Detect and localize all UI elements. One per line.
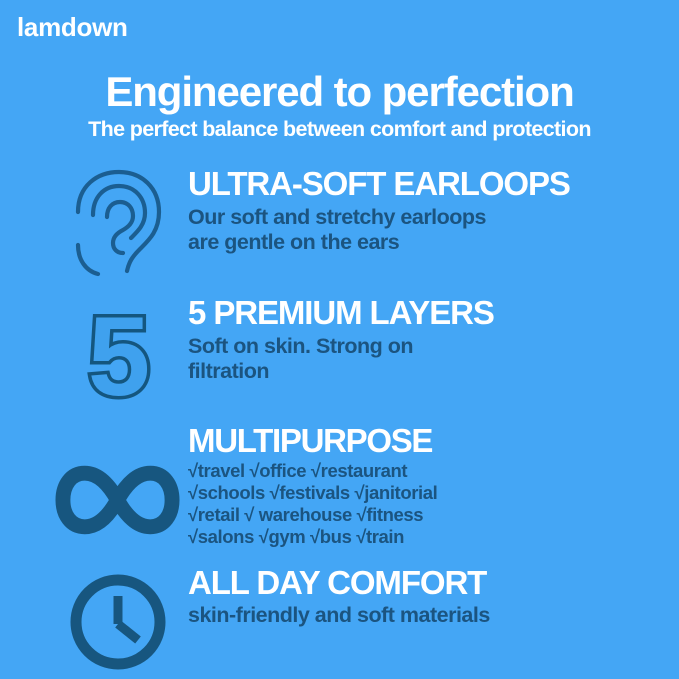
- feature-description-line: skin-friendly and soft materials: [188, 603, 668, 628]
- use-case-list: √travel √office √restaurant √schools √fe…: [188, 460, 668, 548]
- feature-description: skin-friendly and soft materials: [188, 603, 668, 628]
- feature-text-comfort: ALL DAY COMFORT skin-friendly and soft m…: [188, 566, 668, 628]
- feature-description: Our soft and stretchy earloops are gentl…: [188, 205, 668, 256]
- use-case-line: √schools √festivals √janitorial: [188, 482, 668, 504]
- feature-description: Soft on skin. Strong on filtration: [188, 334, 668, 385]
- page-title: Engineered to perfection: [0, 70, 679, 114]
- feature-description-line: Soft on skin. Strong on: [188, 334, 668, 359]
- ear-icon: [55, 167, 180, 279]
- clock-icon: [55, 570, 180, 674]
- feature-text-layers: 5 PREMIUM LAYERS Soft on skin. Strong on…: [188, 296, 668, 385]
- number-five-glyph: 5: [87, 298, 147, 404]
- feature-description-line: filtration: [188, 359, 668, 384]
- feature-title: MULTIPURPOSE: [188, 424, 668, 457]
- feature-text-multipurpose: MULTIPURPOSE √travel √office √restaurant…: [188, 424, 668, 548]
- page-subtitle: The perfect balance between comfort and …: [0, 118, 679, 142]
- brand-logo: lamdown: [17, 14, 128, 40]
- number-five-icon: 5: [55, 298, 180, 404]
- use-case-line: √salons √gym √bus √train: [188, 526, 668, 548]
- feature-text-earloops: ULTRA-SOFT EARLOOPS Our soft and stretch…: [188, 167, 668, 256]
- feature-title: ULTRA-SOFT EARLOOPS: [188, 167, 668, 200]
- feature-description-line: Our soft and stretchy earloops: [188, 205, 668, 230]
- feature-description-line: are gentle on the ears: [188, 230, 668, 255]
- feature-title: 5 PREMIUM LAYERS: [188, 296, 668, 329]
- feature-title: ALL DAY COMFORT: [188, 566, 668, 599]
- use-case-line: √retail √ warehouse √fitness: [188, 504, 668, 526]
- product-feature-poster: lamdown Engineered to perfection The per…: [0, 0, 679, 679]
- use-case-line: √travel √office √restaurant: [188, 460, 668, 482]
- infinity-icon: [55, 464, 180, 536]
